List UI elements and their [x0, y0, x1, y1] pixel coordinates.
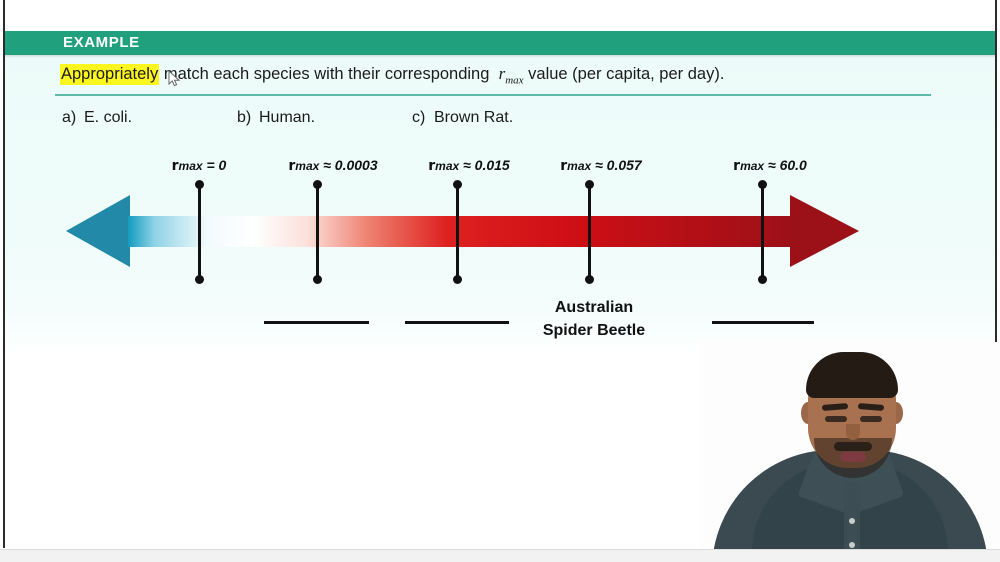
bottom-bar	[0, 549, 1000, 562]
tick-4-value: 0.057	[607, 157, 642, 173]
tick-dot-bottom-icon	[453, 275, 462, 284]
filled-answer-australian-spider-beetle: Australian Spider Beetle	[494, 296, 694, 342]
tick-dot-bottom-icon	[195, 275, 204, 284]
tick-stem	[588, 184, 591, 280]
tick-dot-bottom-icon	[585, 275, 594, 284]
tick-3-relation: ≈	[463, 157, 471, 173]
tick-5-relation: ≈	[768, 157, 776, 173]
tick-dot-bottom-icon	[313, 275, 322, 284]
tick-1-value: 0	[219, 157, 227, 173]
filled-answer-line-2: Spider Beetle	[494, 319, 694, 342]
answer-blank-3[interactable]	[712, 321, 814, 324]
tick-stem	[316, 184, 319, 280]
tick-label-4: rmax ≈ 0.057	[560, 157, 641, 174]
instructor-mustache	[834, 442, 872, 451]
slide-root: EXAMPLE Appropriately match each species…	[0, 0, 1000, 562]
tick-stem	[761, 184, 764, 280]
tick-label-1: rmax = 0	[172, 157, 227, 174]
tick-label-2: rmax ≈ 0.0003	[288, 157, 377, 174]
instructor-shirt-button-1	[849, 518, 855, 524]
tick-mark-4	[588, 180, 591, 284]
tick-2-relation: ≈	[323, 157, 331, 173]
tick-label-3: rmax ≈ 0.015	[428, 157, 509, 174]
mouse-cursor-icon	[168, 70, 182, 88]
instructor-video-overlay[interactable]	[700, 342, 1000, 550]
tick-stem	[456, 184, 459, 280]
tick-2-subscript: max	[295, 159, 319, 173]
tick-1-subscript: max	[179, 159, 203, 173]
number-line-gradient-bar	[128, 216, 793, 247]
answer-blank-1[interactable]	[264, 321, 369, 324]
instructor-eye-right	[860, 416, 882, 422]
filled-answer-line-1: Australian	[494, 296, 694, 319]
tick-5-symbol: r	[733, 158, 740, 174]
tick-5-value: 60.0	[780, 157, 807, 173]
tick-4-relation: ≈	[595, 157, 603, 173]
instructor-shirt-placket	[844, 482, 860, 550]
tick-4-subscript: max	[567, 159, 591, 173]
tick-2-value: 0.0003	[335, 157, 378, 173]
instructor-mouth	[840, 452, 866, 462]
tick-3-value: 0.015	[475, 157, 510, 173]
instructor-eye-left	[825, 416, 847, 422]
rmax-number-line: rmax = 0 rmax ≈ 0.0003 rmax ≈ 0.015 rmax…	[0, 0, 1000, 321]
tick-3-symbol: r	[428, 158, 435, 174]
number-line-left-arrowhead	[66, 195, 130, 267]
tick-label-5: rmax ≈ 60.0	[733, 157, 807, 174]
tick-3-subscript: max	[435, 159, 459, 173]
instructor-shirt-button-2	[849, 542, 855, 548]
tick-2-symbol: r	[288, 158, 295, 174]
tick-1-symbol: r	[172, 158, 179, 174]
tick-4-symbol: r	[560, 158, 567, 174]
tick-mark-1	[198, 180, 201, 284]
tick-dot-bottom-icon	[758, 275, 767, 284]
tick-mark-2	[316, 180, 319, 284]
tick-1-relation: =	[206, 157, 214, 173]
number-line-right-arrowhead	[790, 195, 859, 267]
tick-5-subscript: max	[740, 159, 764, 173]
tick-mark-5	[761, 180, 764, 284]
instructor-nose	[846, 424, 860, 440]
tick-mark-3	[456, 180, 459, 284]
tick-stem	[198, 184, 201, 280]
instructor-hair	[806, 352, 898, 398]
